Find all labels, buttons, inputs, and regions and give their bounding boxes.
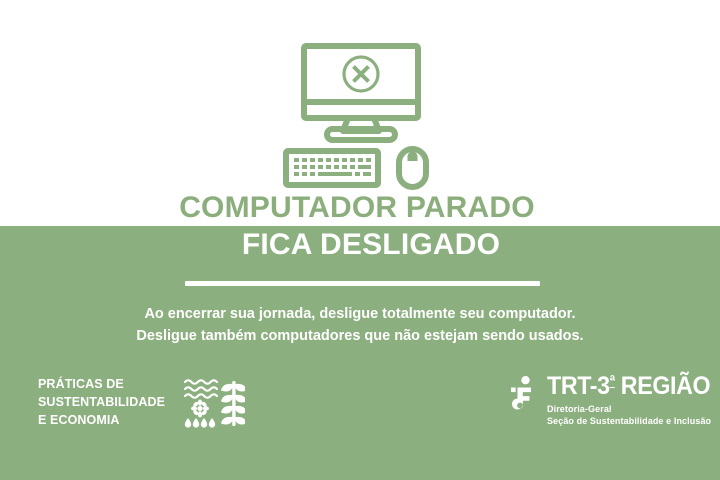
computer-off-icon [281,32,441,192]
poster-canvas: COMPUTADOR PARADO FICA DESLIGADO Ao ence… [0,0,720,480]
trt-wordmark: TRT-3ª REGIÃO [547,374,710,399]
divider-rule [185,281,540,286]
trt-running-figure-icon [508,376,538,412]
page-title: COMPUTADOR PARADO FICA DESLIGADO [0,193,720,260]
trt-wordmark-main: TRT-3 [547,372,610,400]
sustainability-block: PRÁTICAS DE SUSTENTABILIDADE E ECONOMIA [38,376,245,429]
trt-subtitle: Diretoria-Geral Seção de Sustentabilidad… [547,403,720,428]
trt-logo: TRT-3ª REGIÃO Diretoria-Geral Seção de S… [508,374,720,428]
trt-wordmark-tail: REGIÃO [615,372,711,400]
headline-line-1: COMPUTADOR PARADO [0,193,720,224]
headline-line-2: FICA DESLIGADO [0,230,720,261]
green-background-band [0,226,720,480]
trt-logo-text: TRT-3ª REGIÃO Diretoria-Geral Seção de S… [547,374,720,428]
sustainability-line-2: SUSTENTABILIDADE [38,394,165,412]
trt-subtitle-line-2: Seção de Sustentabilidade e Inclusão [547,415,720,427]
body-line-2: Desligue também computadores que não est… [0,325,720,347]
sustainability-line-3: E ECONOMIA [38,412,165,430]
sustainability-label: PRÁTICAS DE SUSTENTABILIDADE E ECONOMIA [38,376,165,429]
sustainability-icon [183,377,245,429]
body-line-1: Ao encerrar sua jornada, desligue totalm… [0,303,720,325]
sustainability-line-1: PRÁTICAS DE [38,376,165,394]
body-copy: Ao encerrar sua jornada, desligue totalm… [0,303,720,348]
trt-subtitle-line-1: Diretoria-Geral [547,403,720,415]
